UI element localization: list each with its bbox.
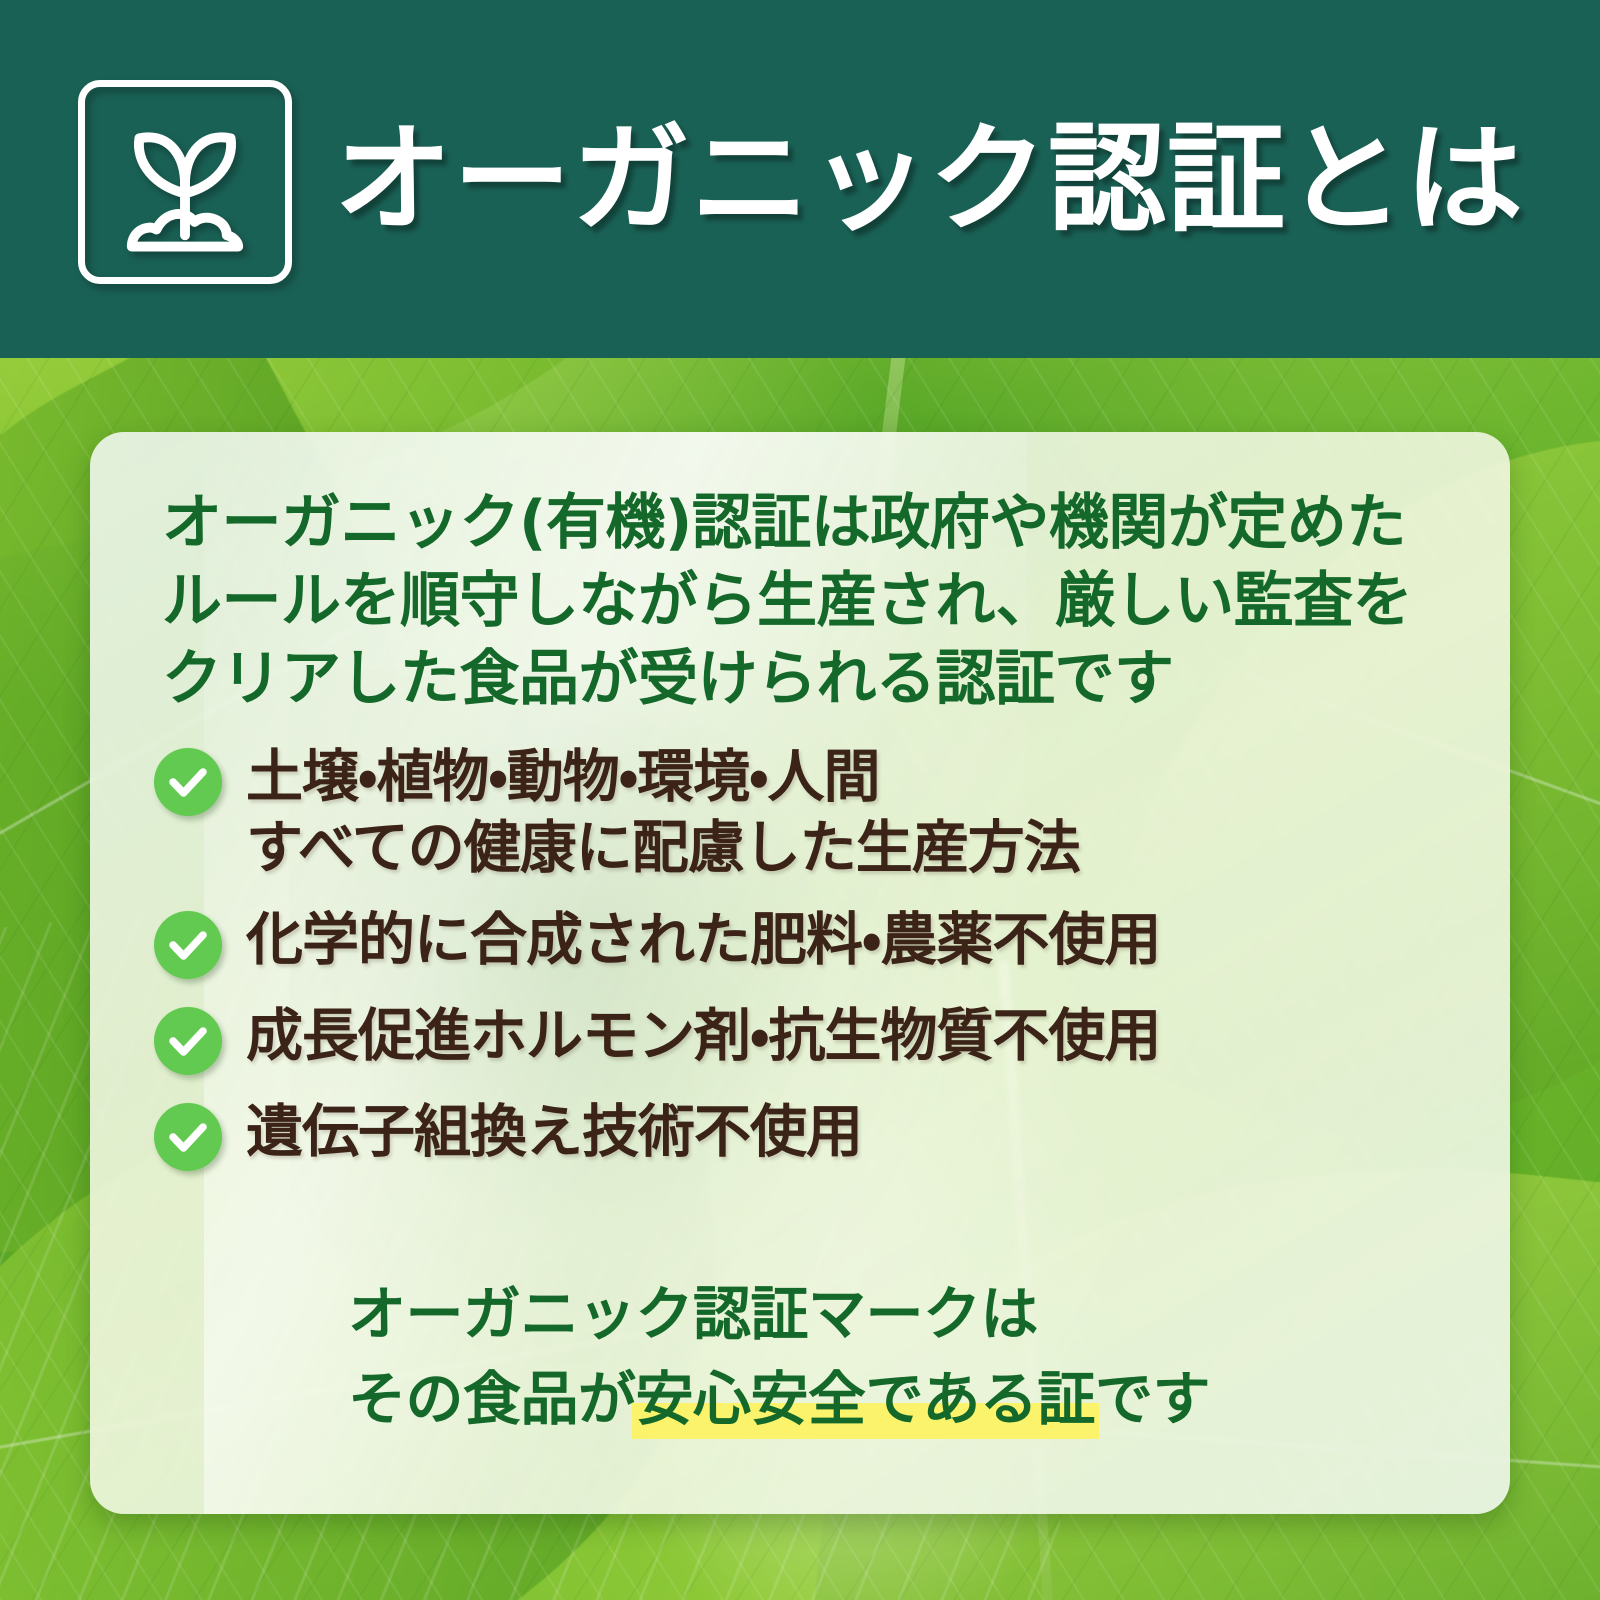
- list-item-label: 成長促進ホルモン剤・抗生物質不使用: [246, 1001, 1160, 1072]
- list-item-label: 化学的に合成された肥料・農薬不使用: [246, 905, 1160, 976]
- closing-line-2-before: その食品が: [348, 1365, 636, 1433]
- list-item: 遺伝子組換え技術不使用: [154, 1097, 1464, 1171]
- intro-line-3: クリアした食品が受けられる認証です: [162, 640, 1452, 718]
- list-item-label: 土壌・植物・動物・環境・人間 すべての健康に配慮した生産方法: [246, 742, 1080, 883]
- closing-line-2-after: です: [1095, 1365, 1210, 1433]
- page-title: オーガニック認証とは: [334, 120, 1524, 238]
- intro-line-1: オーガニック(有機)認証は政府や機関が定めた: [162, 484, 1452, 562]
- benefits-list: 土壌・植物・動物・環境・人間 すべての健康に配慮した生産方法 化学的に合成された…: [154, 742, 1464, 1171]
- list-item: 成長促進ホルモン剤・抗生物質不使用: [154, 1001, 1464, 1075]
- check-circle-icon: [154, 1007, 222, 1075]
- intro-paragraph: オーガニック(有機)認証は政府や機関が定めた ルールを順守しながら生産され、厳し…: [162, 484, 1452, 718]
- list-item-line-1: 遺伝子組換え技術不使用: [246, 1097, 862, 1168]
- list-item-line-1: 化学的に合成された肥料・農薬不使用: [246, 905, 1160, 976]
- list-item-label: 遺伝子組換え技術不使用: [246, 1097, 862, 1168]
- header-bar: オーガニック認証とは: [0, 0, 1600, 358]
- closing-line-2: その食品が安心安全である証です: [348, 1357, 1210, 1442]
- list-item-line-1: 成長促進ホルモン剤・抗生物質不使用: [246, 1001, 1160, 1072]
- list-item: 化学的に合成された肥料・農薬不使用: [154, 905, 1464, 979]
- closing-line-1: オーガニック認証マークは: [348, 1272, 1210, 1357]
- check-circle-icon: [154, 911, 222, 979]
- poster: オーガニック認証とは オーガニック(有機)認証は政府や機関が定めた ルールを順守…: [0, 0, 1600, 1600]
- check-circle-icon: [154, 748, 222, 816]
- highlight-mark: 安心安全である証: [636, 1357, 1095, 1442]
- sprout-icon: [78, 80, 292, 284]
- closing-line-2-highlight: 安心安全である証: [636, 1365, 1095, 1433]
- content-card: オーガニック(有機)認証は政府や機関が定めた ルールを順守しながら生産され、厳し…: [90, 432, 1510, 1514]
- list-item-line-2: すべての健康に配慮した生産方法: [246, 813, 1080, 884]
- closing-statement: オーガニック認証マークは その食品が安心安全である証です: [348, 1272, 1210, 1441]
- list-item-line-1: 土壌・植物・動物・環境・人間: [246, 742, 1080, 813]
- intro-line-2: ルールを順守しながら生産され、厳しい監査を: [162, 562, 1452, 640]
- check-circle-icon: [154, 1103, 222, 1171]
- list-item: 土壌・植物・動物・環境・人間 すべての健康に配慮した生産方法: [154, 742, 1464, 883]
